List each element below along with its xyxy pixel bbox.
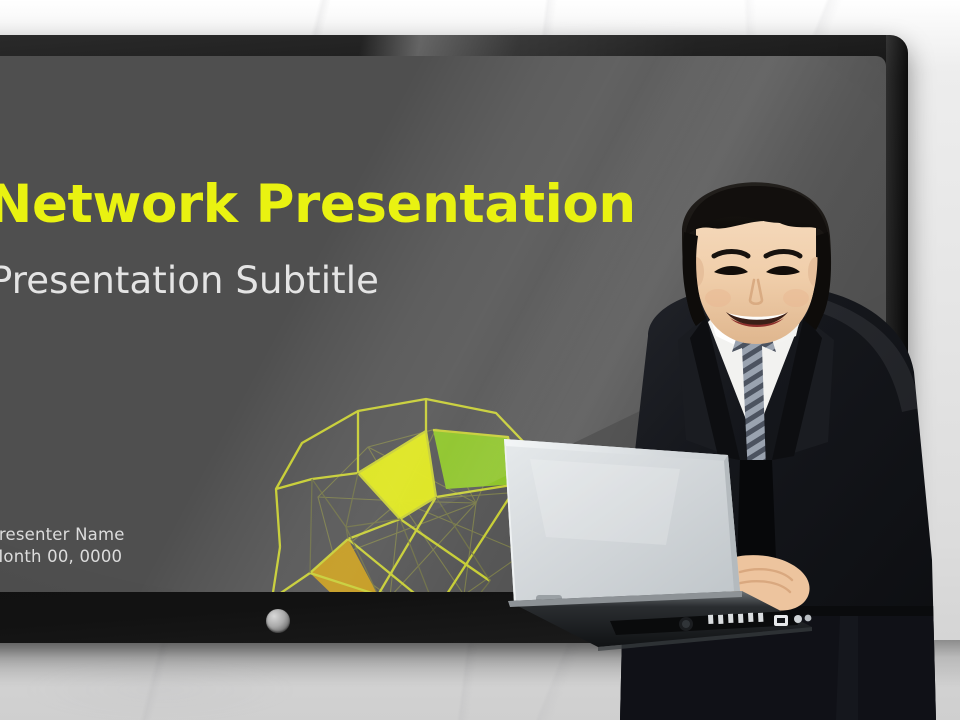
- presenter-info: Presenter Name Month 00, 0000: [0, 524, 125, 568]
- presentation-stage: Network Presentation Presentation Subtit…: [0, 0, 960, 720]
- slide-subtitle: Presentation Subtitle: [0, 259, 379, 302]
- laptop-icon: [490, 425, 820, 655]
- presenter-date: Month 00, 0000: [0, 546, 125, 568]
- page-title: Network Presentation: [0, 174, 636, 235]
- presenter-name: Presenter Name: [0, 525, 125, 544]
- power-led-icon[interactable]: [266, 609, 290, 633]
